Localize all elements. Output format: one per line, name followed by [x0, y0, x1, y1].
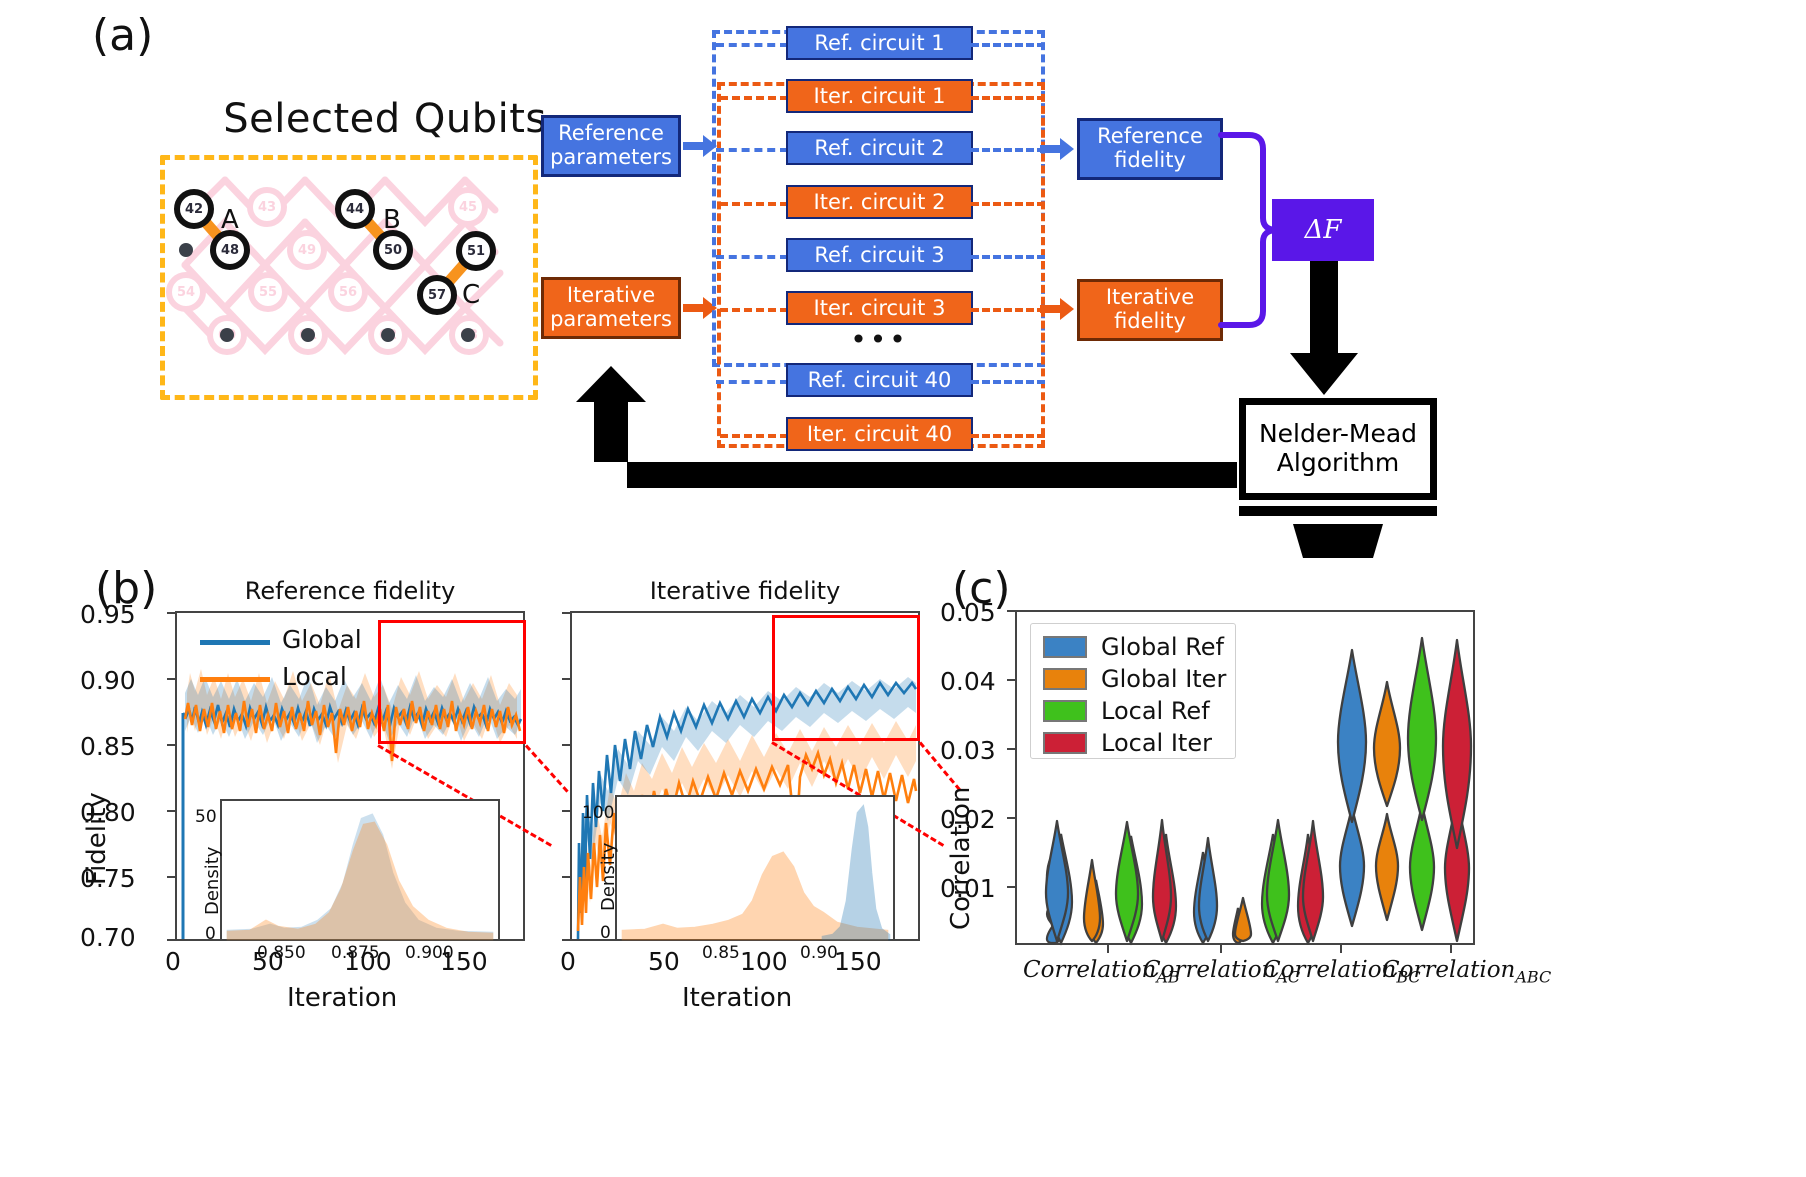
iterative-fidelity-box[interactable]: Iterative fidelity	[1077, 279, 1223, 341]
circuit-box-ref-2[interactable]: Ref. circuit 2	[786, 131, 973, 165]
xtick-0: 0	[560, 947, 576, 976]
legend-swatch-local-iter	[1043, 732, 1087, 754]
ytick-mark	[167, 810, 175, 812]
ytick-0.04: 0.04	[940, 667, 996, 696]
xtick-0: 0	[165, 947, 181, 976]
reference-fidelity-title: Reference fidelity	[175, 577, 525, 605]
ytick-mark	[1007, 679, 1015, 681]
reference-inset-curves	[222, 801, 498, 939]
ytick-mark	[167, 876, 175, 878]
ytick-0.03: 0.03	[940, 736, 996, 765]
ytick-mark	[1007, 610, 1015, 612]
connector-dash	[716, 148, 788, 152]
ytick-mark	[167, 939, 175, 941]
legend-swatch-local-ref	[1043, 700, 1087, 722]
selected-qubits-title: Selected Qubits	[215, 96, 555, 142]
qubit-node-57: 57	[417, 275, 457, 315]
circuit-box-ref-3[interactable]: Ref. circuit 3	[786, 238, 973, 272]
legend-label-local-iter: Local Iter	[1101, 729, 1212, 757]
ytick-0.02: 0.02	[940, 805, 996, 834]
inactive-dot	[381, 328, 395, 342]
ytick-mark	[562, 810, 570, 812]
zoom-connector-dash	[525, 744, 569, 792]
xcat-correlation-abc: CorrelationABC	[1382, 957, 1551, 987]
iterative-parameters-label: Iterative parameters	[550, 284, 672, 331]
ytick-mark	[562, 876, 570, 878]
inset-xtick-0.900: 0.900	[405, 943, 454, 963]
xtick-mark	[1340, 945, 1342, 953]
xcat-label: Correlation	[1023, 957, 1156, 983]
reference-zoom-box	[378, 620, 526, 744]
panel-c: (c) Correlation	[930, 545, 1806, 1177]
inset-ytick-50: 50	[195, 807, 217, 827]
legend-swatch-global-iter	[1043, 668, 1087, 690]
inset-xtick-0.850: 0.850	[257, 943, 306, 963]
qubit-node-45: 45	[448, 187, 488, 227]
iterative-fidelity-xlabel: Iteration	[682, 983, 792, 1013]
iterative-inset-axes	[615, 795, 895, 941]
ytick-mark	[167, 744, 175, 746]
inactive-dot	[220, 328, 234, 342]
ytick-mark	[562, 939, 570, 941]
legend-line-local	[200, 677, 270, 682]
ytick-0.01: 0.01	[940, 874, 996, 903]
circuit-box-iter-1[interactable]: Iter. circuit 1	[786, 79, 973, 113]
ytick-0.70: 0.70	[80, 923, 136, 952]
inset-xtick-0.85: 0.85	[702, 943, 740, 963]
ytick-0.75: 0.75	[80, 864, 136, 893]
legend-label-global-iter: Global Iter	[1101, 665, 1226, 693]
qubit-node-43: 43	[247, 187, 287, 227]
qubit-node-51: 51	[456, 231, 496, 271]
ytick-0.85: 0.85	[80, 732, 136, 761]
panel-b: (b) Fidelity Reference fidelity Global L…	[0, 545, 930, 1177]
connector-dash	[716, 255, 788, 259]
xtick-mark	[1107, 945, 1109, 953]
qubit-node-48: 48	[210, 230, 250, 270]
ytick-0.80: 0.80	[80, 798, 136, 827]
inactive-dot	[461, 328, 475, 342]
arrow-to-iterative-fidelity	[1040, 296, 1076, 322]
delta-f-box[interactable]: ΔF	[1272, 199, 1374, 261]
connector-dash	[971, 308, 1045, 312]
selected-qubits-region: 43 45 49 54 55 56 60 61 62 63 42 48 44 5…	[160, 155, 538, 400]
iterative-fidelity-label: Iterative fidelity	[1106, 286, 1194, 333]
ytick-mark	[562, 744, 570, 746]
ytick-mark	[167, 678, 175, 680]
ytick-mark	[562, 612, 570, 614]
arrow-delta-f-to-algorithm	[1288, 261, 1360, 397]
monitor-bar	[1239, 506, 1437, 516]
xcat-sub: ABC	[1515, 968, 1551, 987]
qubit-node-50: 50	[373, 230, 413, 270]
connector-dash	[720, 202, 788, 206]
qubit-node-44: 44	[335, 189, 375, 229]
iterative-fidelity-title: Iterative fidelity	[570, 577, 920, 605]
legend-label-global: Global	[282, 625, 362, 654]
pair-label-C: C	[462, 280, 480, 310]
legend-label-global-ref: Global Ref	[1101, 633, 1224, 661]
circuit-box-iter-3[interactable]: Iter. circuit 3	[786, 291, 973, 325]
xtick-150: 150	[834, 947, 882, 976]
iterative-parameters-box[interactable]: Iterative parameters	[541, 277, 681, 339]
reference-fidelity-label: Reference fidelity	[1097, 125, 1203, 172]
legend-line-global	[200, 640, 270, 645]
circuit-box-ref-1[interactable]: Ref. circuit 1	[786, 26, 973, 60]
connector-dash	[971, 148, 1045, 152]
ytick-mark	[1007, 817, 1015, 819]
correlation-legend: Global Ref Global Iter Local Ref Local I…	[1030, 623, 1236, 759]
legend-label-local-ref: Local Ref	[1101, 697, 1210, 725]
connector-dash	[971, 255, 1045, 259]
qubit-node-54: 54	[166, 272, 206, 312]
circuit-ellipsis: •••	[786, 326, 973, 354]
reference-parameters-box[interactable]: Reference parameters	[541, 115, 681, 177]
reference-parameters-label: Reference parameters	[550, 122, 672, 169]
ytick-mark	[1007, 748, 1015, 750]
panel-a-letter: (a)	[92, 10, 153, 61]
connector-dash	[971, 96, 1045, 100]
nelder-mead-box[interactable]: Nelder-Mead Algorithm	[1239, 398, 1437, 500]
inset-ytick-0: 0	[205, 924, 216, 944]
xtick-mark	[1220, 945, 1222, 953]
circuit-box-iter-2[interactable]: Iter. circuit 2	[786, 185, 973, 219]
ytick-0.95: 0.95	[80, 600, 136, 629]
reference-inset-ylabel: Density	[202, 847, 223, 915]
delta-f-label: ΔF	[1305, 215, 1342, 245]
legend-label-local: Local	[282, 662, 347, 691]
iterative-zoom-box	[772, 615, 920, 741]
ytick-0.05: 0.05	[940, 598, 996, 627]
iterative-inset-ylabel: Density	[598, 843, 619, 911]
inset-ytick-0: 0	[600, 923, 611, 943]
pair-label-B: B	[383, 205, 401, 235]
qubit-node-56: 56	[328, 272, 368, 312]
reference-inset-axes	[220, 799, 500, 941]
connector-dash	[720, 308, 788, 312]
xtick-50: 50	[648, 947, 680, 976]
ytick-mark	[1007, 886, 1015, 888]
nelder-mead-label: Nelder-Mead Algorithm	[1259, 420, 1417, 478]
connector-dash	[971, 43, 1045, 47]
connector-dash	[716, 43, 788, 47]
qubit-node-42: 42	[174, 189, 214, 229]
xcat-label: Correlation	[1263, 957, 1396, 983]
inset-xtick-0.875: 0.875	[331, 943, 380, 963]
xtick-mark	[1450, 945, 1452, 953]
feedback-arrow	[572, 366, 1237, 492]
arrow-to-reference-fidelity	[1040, 136, 1076, 162]
inset-ytick-100: 100	[582, 803, 614, 823]
ytick-mark	[167, 612, 175, 614]
ytick-0.90: 0.90	[80, 666, 136, 695]
connector-dash	[720, 96, 788, 100]
connector-dash	[971, 202, 1045, 206]
pair-label-A: A	[221, 205, 239, 235]
xtick-100: 100	[740, 947, 788, 976]
inactive-dot	[179, 243, 193, 257]
xcat-label: Correlation	[1143, 957, 1276, 983]
iterative-inset-curves	[617, 797, 893, 939]
ytick-mark	[562, 678, 570, 680]
xcat-label: Correlation	[1382, 957, 1515, 983]
inset-xtick-0.90: 0.90	[800, 943, 838, 963]
reference-fidelity-box[interactable]: Reference fidelity	[1077, 118, 1223, 180]
panel-a: (a) Selected Qubits	[0, 0, 1806, 560]
reference-fidelity-xlabel: Iteration	[287, 983, 397, 1013]
legend-swatch-global-ref	[1043, 636, 1087, 658]
qubit-node-49: 49	[287, 230, 327, 270]
qubit-node-55: 55	[248, 272, 288, 312]
inactive-dot	[301, 328, 315, 342]
